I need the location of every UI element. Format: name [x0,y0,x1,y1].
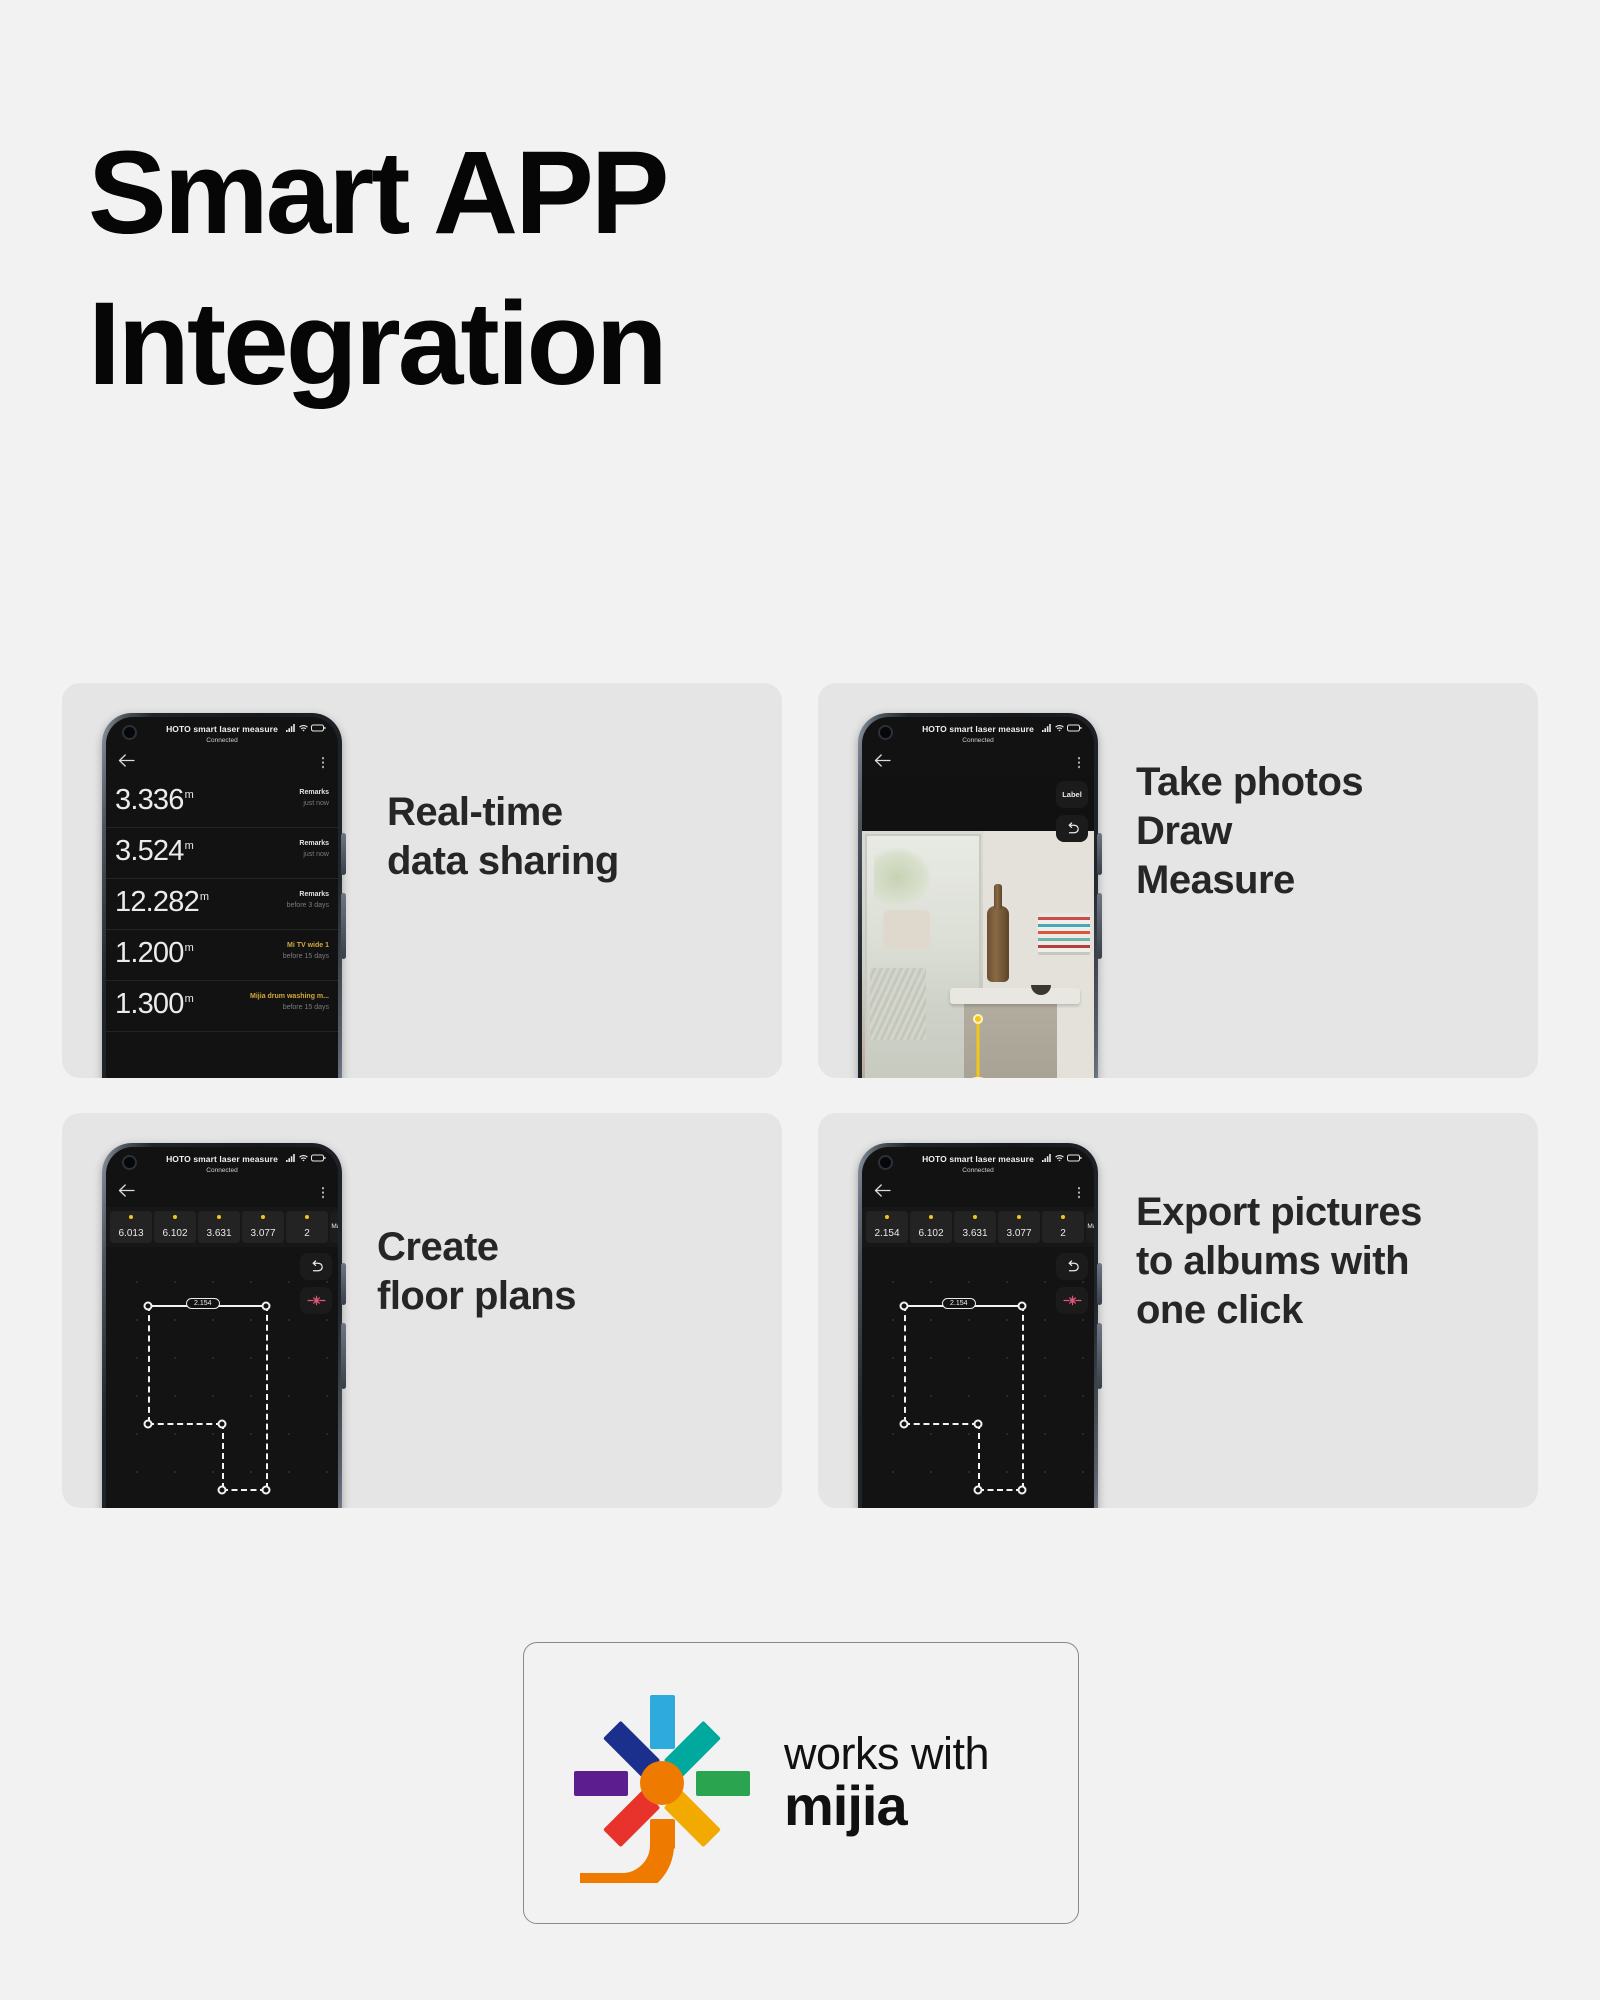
undo-button[interactable] [1056,815,1088,842]
caption-line: Draw [1136,807,1363,856]
wall-vertex[interactable] [262,1486,271,1495]
measurement-chip[interactable]: 2 [286,1211,328,1243]
ar-books [1038,913,1090,955]
wifi-icon [1055,1154,1064,1162]
manual-input-button[interactable]: Manual input [330,1211,338,1243]
ar-measure-line [977,1019,980,1078]
phone-volume-button[interactable] [341,893,346,959]
wall-segment-right [1022,1305,1024,1489]
list-item[interactable]: 1.200m Mi TV wide 1 before 15 days [106,930,338,981]
kebab-menu-icon[interactable] [322,756,325,769]
floorplan-tools [300,1253,332,1314]
system-icons [286,1154,326,1162]
list-item[interactable]: 3.524m Remarks just now [106,828,338,879]
measurement-time: just now [299,800,329,807]
wall-vertex[interactable] [974,1486,983,1495]
nav-bar [106,1181,338,1207]
measurement-chip[interactable]: 2.154 [866,1211,908,1243]
measurement-meta: Mi TV wide 1 before 15 days [283,942,329,960]
laser-crosshair-icon [307,1294,326,1307]
wall-vertex[interactable] [1018,1302,1027,1311]
caption-line: data sharing [387,837,619,886]
wall-segment-right [266,1305,268,1489]
signal-icon [286,724,295,732]
wall-segment-bottom-right [978,1489,1022,1491]
wall-vertex[interactable] [144,1302,153,1311]
page-title: Smart APP Integration [88,118,667,420]
measurement-remark: Remarks [287,891,329,898]
headline-line-1: Smart APP [88,127,667,259]
phone-screen: HOTO smart laser measure Connected 2.154… [862,1147,1094,1508]
status-bar: HOTO smart laser measure Connected [862,717,1094,751]
undo-button[interactable] [300,1253,332,1280]
caption-line: Take photos [1136,758,1363,807]
feature-card-export: HOTO smart laser measure Connected 2.154… [818,1113,1538,1508]
status-bar: HOTO smart laser measure Connected [862,1147,1094,1181]
phone-screen: HOTO smart laser measure Connected 3.336… [106,717,338,1078]
list-item[interactable]: 12.282m Remarks before 3 days [106,879,338,930]
caption-line: one click [1136,1286,1422,1335]
measurement-chip[interactable]: 3.077 [998,1211,1040,1243]
battery-icon [311,724,326,732]
phone-side-button[interactable] [341,1263,346,1305]
card-caption: Real-time data sharing [387,788,619,886]
measurement-value: 1.200m [115,937,193,970]
back-arrow-icon[interactable] [874,753,891,768]
feature-card-realtime: HOTO smart laser measure Connected 3.336… [62,683,782,1078]
phone-mockup-realtime: HOTO smart laser measure Connected 3.336… [102,713,342,1078]
measurement-remark: Remarks [299,840,329,847]
system-icons [1042,1154,1082,1162]
measurement-chip[interactable]: 6.102 [910,1211,952,1243]
battery-icon [1067,724,1082,732]
signal-icon [1042,1154,1051,1162]
back-arrow-icon[interactable] [118,1183,135,1198]
ar-measure-node-start[interactable] [973,1014,983,1024]
measurement-chip[interactable]: 2 [1042,1211,1084,1243]
measurement-chip[interactable]: 3.077 [242,1211,284,1243]
nav-bar [106,751,338,777]
undo-icon [1065,822,1080,835]
caption-line: Measure [1136,856,1363,905]
measurement-chip[interactable]: 6.013 [110,1211,152,1243]
kebab-menu-icon[interactable] [1078,756,1081,769]
card-caption: Create floor plans [377,1223,576,1321]
wall-vertex[interactable] [218,1486,227,1495]
measurement-chip[interactable]: 3.631 [198,1211,240,1243]
caption-line: floor plans [377,1272,576,1321]
label-button[interactable]: Label [1056,781,1088,808]
battery-icon [311,1154,326,1162]
measurement-remark: Remarks [299,789,329,796]
feature-card-ar-measure: HOTO smart laser measure Connected Label [818,683,1538,1078]
wall-vertex[interactable] [900,1302,909,1311]
undo-icon [309,1260,324,1273]
laser-measure-button[interactable] [1056,1287,1088,1314]
floorplan-canvas[interactable]: 2.154 Remind Downloaded to the system al… [862,1247,1094,1508]
measurement-list: 3.336m Remarks just now 3.524m Remarks j… [106,777,338,1032]
wall-vertex[interactable] [262,1302,271,1311]
wall-segment-bottom-right [222,1489,266,1491]
laser-measure-button[interactable] [300,1287,332,1314]
undo-icon [1065,1260,1080,1273]
feature-card-floorplan: HOTO smart laser measure Connected 6.013… [62,1113,782,1508]
nav-bar [862,751,1094,777]
wall-vertex[interactable] [974,1420,983,1429]
battery-icon [1067,1154,1082,1162]
wall-vertex[interactable] [144,1420,153,1429]
measurement-remark: Mi TV wide 1 [283,942,329,949]
system-icons [286,724,326,732]
undo-button[interactable] [1056,1253,1088,1280]
measurement-time: just now [299,851,329,858]
phone-screen: HOTO smart laser measure Connected Label [862,717,1094,1078]
promo-page: Smart APP Integration HOTO smart laser m… [0,0,1600,2000]
signal-icon [1042,724,1051,732]
wall-segment-bottom-left [904,1423,978,1425]
measurement-value: 1.300m [115,988,193,1021]
phone-side-button[interactable] [341,833,346,875]
measurement-chip[interactable]: 3.631 [954,1211,996,1243]
wifi-icon [1055,724,1064,732]
ar-gravel [870,968,926,1040]
phone-screen: HOTO smart laser measure Connected 6.013… [106,1147,338,1508]
ar-foliage [874,847,932,908]
measurement-chip-bar: 6.013 6.102 3.631 3.077 2 Manual input [106,1207,338,1247]
signal-icon [286,1154,295,1162]
list-item[interactable]: 3.336m Remarks just now [106,777,338,828]
nav-bar [862,1181,1094,1207]
card-caption: Export pictures to albums with one click [1136,1188,1422,1334]
mijia-brand-label: mijia [784,1777,989,1836]
caption-line: Create [377,1223,576,1272]
measurement-meta: Remarks just now [299,789,329,807]
wall-vertex[interactable] [900,1420,909,1429]
connection-status: Connected [862,1167,1094,1174]
phone-mockup-export: HOTO smart laser measure Connected 2.154… [858,1143,1098,1508]
measurement-time: before 15 days [250,1004,329,1011]
caption-line: Real-time [387,788,619,837]
phone-volume-button[interactable] [341,1323,346,1389]
kebab-menu-icon[interactable] [1078,1186,1081,1199]
kebab-menu-icon[interactable] [322,1186,325,1199]
measurement-meta: Remarks before 3 days [287,891,329,909]
ar-table-top [950,988,1080,1004]
works-with-label: works with [784,1730,989,1777]
ar-tool-buttons: Label [1056,781,1088,842]
works-with-mijia-badge: works with mijia [523,1642,1079,1924]
status-bar: HOTO smart laser measure Connected [106,1147,338,1181]
badge-text: works with mijia [784,1730,989,1836]
list-item[interactable]: 1.300m Mijia drum washing m... before 15… [106,981,338,1032]
phone-volume-button[interactable] [1097,1323,1102,1389]
wall-length-label[interactable]: 2.154 [186,1298,220,1309]
wall-segment-left [148,1305,150,1423]
ar-bottle [987,906,1009,982]
connection-status: Connected [106,1167,338,1174]
measurement-value: 3.524m [115,835,193,868]
manual-input-button[interactable]: Manual input [1086,1211,1094,1243]
wall-segment-left [904,1305,906,1423]
card-caption: Take photos Draw Measure [1136,758,1363,904]
measurement-time: before 3 days [287,902,329,909]
back-arrow-icon[interactable] [118,753,135,768]
mijia-flower-logo [562,1683,762,1883]
laser-crosshair-icon [1063,1294,1082,1307]
phone-side-button[interactable] [1097,833,1102,875]
wall-vertex[interactable] [1018,1486,1027,1495]
wall-segment-middle [978,1423,980,1489]
caption-line: to albums with [1136,1237,1422,1286]
measurement-chip[interactable]: 6.102 [154,1211,196,1243]
phone-mockup-ar: HOTO smart laser measure Connected Label [858,713,1098,1078]
phone-side-button[interactable] [1097,1263,1102,1305]
ar-sofa [883,910,930,949]
wall-segment-middle [222,1423,224,1489]
floorplan-tools [1056,1253,1088,1314]
measurement-remark: Mijia drum washing m... [250,993,329,1000]
headline-line-2: Integration [88,269,667,420]
measurement-value: 3.336m [115,784,193,817]
ar-camera-view[interactable]: 0.526 [862,831,1094,1078]
wifi-icon [299,1154,308,1162]
measurement-value: 12.282m [115,886,208,919]
wifi-icon [299,724,308,732]
measurement-chip-bar: 2.154 6.102 3.631 3.077 2 Manual input [862,1207,1094,1247]
system-icons [1042,724,1082,732]
caption-line: Export pictures [1136,1188,1422,1237]
wall-vertex[interactable] [218,1420,227,1429]
measurement-meta: Remarks just now [299,840,329,858]
connection-status: Connected [862,737,1094,744]
phone-mockup-floorplan: HOTO smart laser measure Connected 6.013… [102,1143,342,1508]
wall-segment-bottom-left [148,1423,222,1425]
floorplan-canvas[interactable]: 2.154 [106,1247,338,1508]
wall-length-label[interactable]: 2.154 [942,1298,976,1309]
status-bar: HOTO smart laser measure Connected [106,717,338,751]
connection-status: Connected [106,737,338,744]
phone-volume-button[interactable] [1097,893,1102,959]
measurement-meta: Mijia drum washing m... before 15 days [250,993,329,1011]
back-arrow-icon[interactable] [874,1183,891,1198]
measurement-time: before 15 days [283,953,329,960]
